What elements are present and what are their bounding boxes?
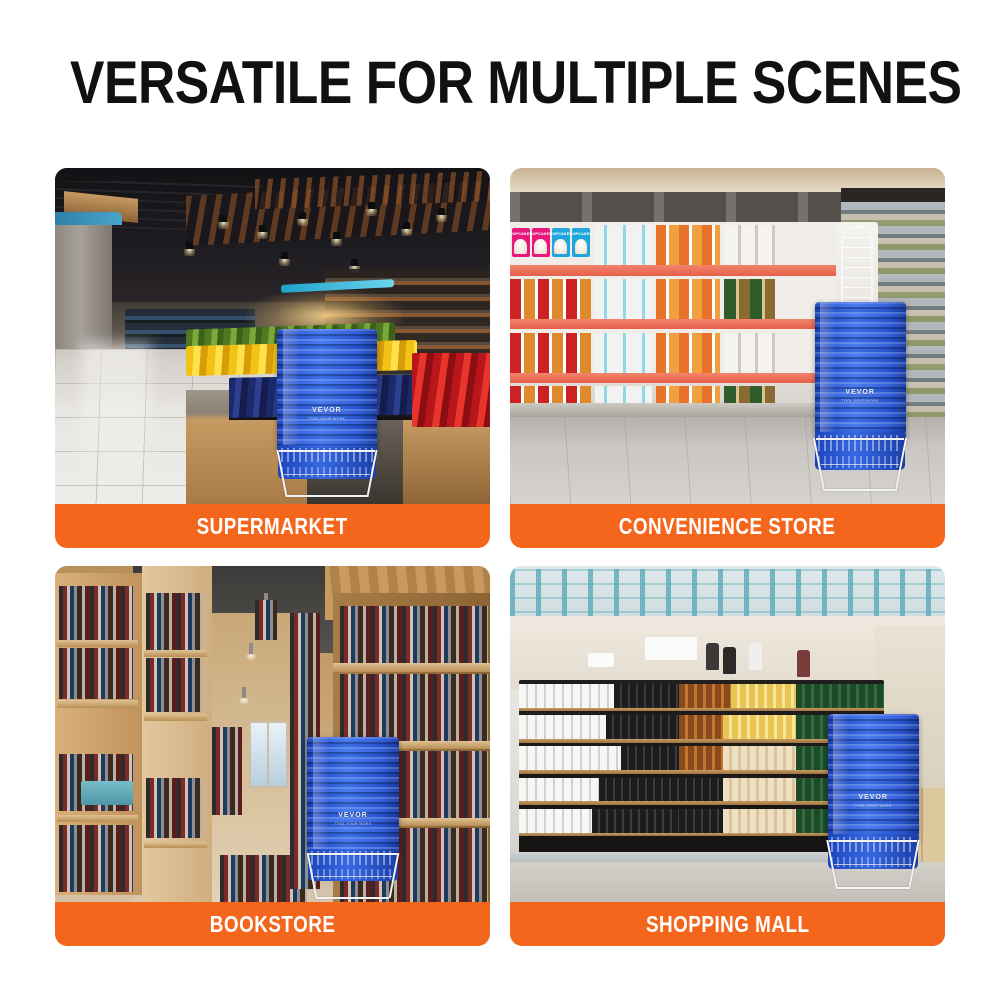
- products-white-bottles: [519, 684, 614, 708]
- scene-grid: VEVOR TOOL YOUR WORK SUPERMARKET: [55, 168, 945, 946]
- goods-cream-boxes: [724, 333, 775, 373]
- mannequin-display: [749, 643, 762, 670]
- books-row: [340, 674, 488, 741]
- scene-photo-convenience-store: CUPCAKES CUPCAKES CUPCAKES CUPCAKES: [510, 168, 945, 504]
- stand-mid-bar: [284, 474, 370, 475]
- stand-mid-bar: [834, 864, 913, 865]
- stand-top-bar: [829, 840, 917, 842]
- goods-red-boxes: [510, 279, 591, 319]
- goods-icecream-boxes: [595, 225, 653, 265]
- track-light-icon: [281, 252, 288, 261]
- shelf-row-2: [510, 279, 849, 329]
- product-basket-stack[interactable]: VEVOR TOOL YOUR WORK: [815, 302, 906, 490]
- shelf-row-3: [510, 333, 849, 383]
- wall-sign: [645, 637, 697, 661]
- wire-stand: [815, 438, 906, 491]
- shelf-board: [333, 663, 490, 671]
- shelf-board: [57, 640, 137, 647]
- vevor-logo-text: VEVOR: [845, 389, 875, 396]
- stand-top-bar: [279, 450, 375, 452]
- caption-bar-bookstore: BOOKSTORE: [55, 902, 490, 946]
- cupcake-box: CUPCAKES: [532, 228, 550, 257]
- vevor-logo: VEVOR TOOL YOUR WORK: [307, 812, 398, 828]
- scene-card-bookstore[interactable]: VEVOR TOOL YOUR WORK BOOKSTORE: [55, 566, 490, 946]
- stacked-baskets: [307, 737, 398, 853]
- products-white-bottles: [519, 809, 592, 833]
- products-dark-bottles: [592, 809, 680, 833]
- track-light-icon: [403, 222, 410, 231]
- mannequin-display: [706, 643, 719, 670]
- cupcake-box: CUPCAKES: [572, 228, 590, 257]
- shelf-board: [144, 842, 207, 849]
- goods-icecream-boxes: [595, 279, 653, 319]
- stand-bottom-bar: [824, 489, 897, 491]
- stand-bottom-bar: [316, 897, 389, 899]
- caption-label-shopping-mall: SHOPPING MALL: [646, 911, 810, 938]
- shelf-kickplate: [510, 403, 849, 416]
- vevor-logo-subtext: TOOL YOUR WORK: [815, 397, 906, 405]
- cupcake-box: CUPCAKES: [512, 228, 530, 257]
- stand-top-bar: [816, 438, 904, 440]
- caption-label-convenience-store: CONVENIENCE STORE: [619, 513, 836, 540]
- products-cream-tubes: [723, 746, 796, 770]
- shelf-edge-3: [510, 373, 849, 383]
- page-title: VERSATILE FOR MULTIPLE SCENES: [70, 50, 930, 116]
- products-white-bottles: [519, 778, 599, 802]
- pillar-teal-band: [55, 212, 122, 225]
- shelf-row-1: CUPCAKES CUPCAKES CUPCAKES CUPCAKES: [510, 225, 849, 275]
- window-mullion: [267, 723, 269, 786]
- products-dark-bottles: [606, 715, 679, 739]
- cupcake-swirl-icon: [514, 239, 527, 254]
- track-light-icon: [259, 225, 266, 234]
- product-basket-stack[interactable]: VEVOR TOOL YOUR WORK: [828, 714, 919, 889]
- scene-photo-bookstore: VEVOR TOOL YOUR WORK: [55, 566, 490, 902]
- cupcake-label: CUPCAKES: [570, 231, 592, 236]
- cupcake-swirl-icon: [554, 239, 567, 254]
- products-dark-bottles: [599, 778, 679, 802]
- wire-stand: [277, 450, 377, 497]
- stacked-baskets: [828, 714, 919, 840]
- products-dark-bottles: [621, 746, 679, 770]
- stand-top-bar: [309, 853, 397, 855]
- scene-photo-shopping-mall: VEVOR TOOL YOUR WORK: [510, 566, 945, 902]
- products-white-bottles: [519, 715, 607, 739]
- books-row: [340, 606, 488, 663]
- cupcake-swirl-icon: [534, 239, 547, 254]
- shelf-goods-1: CUPCAKES CUPCAKES CUPCAKES CUPCAKES: [510, 225, 849, 265]
- products-green-bottles: [796, 684, 884, 708]
- products-dark-bottles: [679, 809, 723, 833]
- vevor-logo: VEVOR TOOL YOUR WORK: [828, 794, 919, 810]
- caption-bar-convenience-store: CONVENIENCE STORE: [510, 504, 945, 548]
- track-light-icon: [438, 208, 445, 217]
- track-light-icon: [351, 259, 358, 268]
- books-row: [59, 648, 133, 698]
- goods-red-boxes: [510, 333, 591, 373]
- stand-mid-bar: [821, 464, 900, 465]
- products-amber-bottles: [679, 715, 723, 739]
- books-row: [146, 593, 203, 650]
- produce-red: [412, 353, 490, 427]
- stacked-baskets: [815, 302, 906, 437]
- vevor-logo: VEVOR TOOL YOUR WORK: [815, 389, 906, 405]
- vevor-logo-text: VEVOR: [312, 407, 342, 414]
- goods-orange-boxes: [656, 333, 720, 373]
- caption-bar-shopping-mall: SHOPPING MALL: [510, 902, 945, 946]
- goods-white-bags: [724, 225, 775, 265]
- track-light-icon: [220, 215, 227, 224]
- books-row: [146, 658, 203, 712]
- books-row: [255, 600, 277, 640]
- track-light-icon: [333, 232, 340, 241]
- track-light-icon: [368, 202, 375, 211]
- stacked-baskets: [277, 329, 377, 450]
- shelf-edge-1: [510, 265, 849, 275]
- shelf-board: [144, 650, 207, 657]
- vevor-logo-subtext: TOOL YOUR WORK: [828, 802, 919, 810]
- products-dark-bottles: [679, 778, 723, 802]
- aisle-light-reflection: [81, 343, 151, 491]
- books-row: [59, 825, 133, 892]
- products-yellow-bottles: [723, 715, 796, 739]
- shelf-board: [519, 708, 884, 712]
- products-amber-bottles: [679, 746, 723, 770]
- products-cream-tubes: [723, 809, 796, 833]
- vevor-logo: VEVOR TOOL YOUR WORK: [277, 407, 377, 423]
- products-amber-bottles: [679, 684, 730, 708]
- reading-bench: [81, 781, 133, 805]
- goods-orange-boxes: [656, 279, 720, 319]
- shelf-goods-2: [510, 279, 849, 319]
- pendant-lamp-icon: [242, 687, 246, 699]
- products-cream-tubes: [723, 778, 796, 802]
- shelf-edge-2: [510, 319, 849, 329]
- books-row-far: [212, 727, 242, 814]
- stand-mid-bar: [314, 876, 393, 877]
- shelf-board: [57, 815, 137, 822]
- vevor-logo-text: VEVOR: [338, 812, 368, 819]
- goods-orange-boxes: [656, 225, 720, 265]
- vevor-logo-text: VEVOR: [858, 794, 888, 801]
- goods-icecream-boxes: [595, 333, 653, 373]
- stand-bottom-bar: [837, 887, 910, 889]
- stand-bottom-bar: [287, 495, 367, 497]
- scene-card-shopping-mall[interactable]: VEVOR TOOL YOUR WORK SHOPPING MALL: [510, 566, 945, 946]
- ceiling-truss-grid: [510, 569, 945, 616]
- shelf-board: [57, 700, 137, 707]
- caption-label-supermarket: SUPERMARKET: [197, 513, 348, 540]
- scene-card-supermarket[interactable]: VEVOR TOOL YOUR WORK SUPERMARKET: [55, 168, 490, 548]
- wire-stand: [828, 840, 919, 889]
- vevor-logo-subtext: TOOL YOUR WORK: [307, 820, 398, 828]
- caption-label-bookstore: BOOKSTORE: [210, 911, 336, 938]
- window: [249, 721, 288, 788]
- books-row: [146, 778, 203, 838]
- cupcake-box: CUPCAKES: [552, 228, 570, 257]
- products-dark-bottles: [614, 684, 680, 708]
- track-light-icon: [299, 212, 306, 221]
- wall-sign: [588, 653, 614, 666]
- scene-card-convenience-store[interactable]: CUPCAKES CUPCAKES CUPCAKES CUPCAKES: [510, 168, 945, 548]
- wire-stand: [307, 853, 398, 898]
- product-basket-stack[interactable]: VEVOR TOOL YOUR WORK: [277, 329, 377, 497]
- vevor-logo-subtext: TOOL YOUR WORK: [277, 415, 377, 423]
- caption-bar-supermarket: SUPERMARKET: [55, 504, 490, 548]
- books-row: [59, 586, 133, 640]
- mannequin-display: [723, 647, 736, 674]
- cupcake-swirl-icon: [575, 239, 588, 254]
- pendant-lamp-icon: [249, 643, 253, 655]
- shelf-board: [144, 714, 207, 721]
- products-white-bottles: [519, 746, 621, 770]
- track-light-icon: [186, 242, 193, 251]
- goods-green-packets: [724, 279, 775, 319]
- shelf-goods-3: [510, 333, 849, 373]
- products-yellow-bottles: [731, 684, 797, 708]
- product-basket-stack[interactable]: VEVOR TOOL YOUR WORK: [307, 737, 398, 898]
- shelf-row-1: [519, 684, 884, 711]
- scene-photo-supermarket: VEVOR TOOL YOUR WORK: [55, 168, 490, 504]
- mannequin-display: [797, 650, 810, 677]
